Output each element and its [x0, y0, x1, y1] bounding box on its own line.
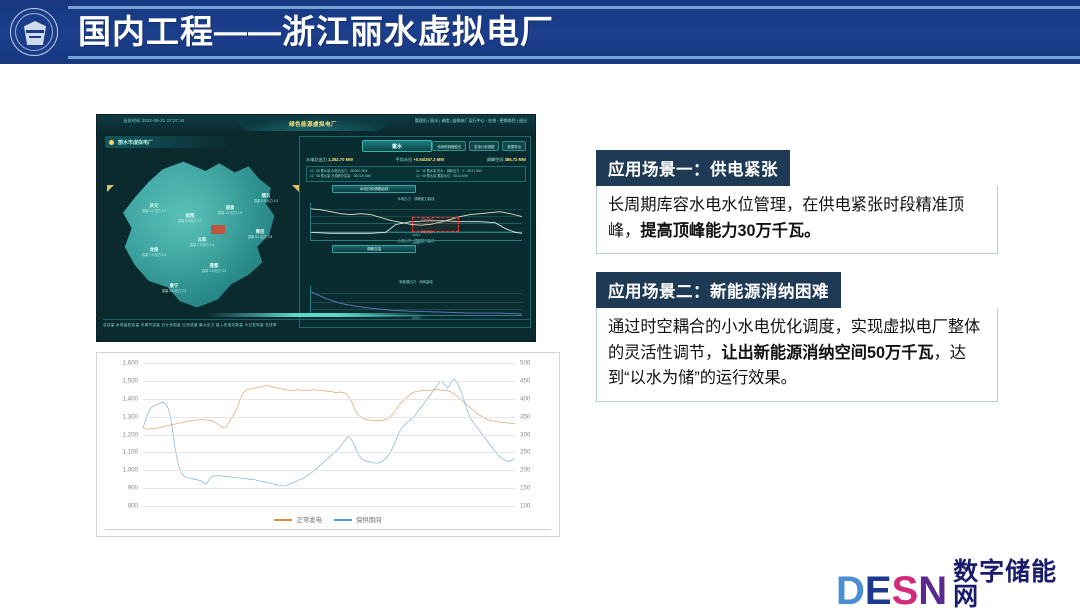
desn-letter-n: N — [918, 574, 947, 608]
desn-letter-s: S — [892, 574, 919, 608]
info-line: 12 · 08 蓄水量 日调峰补偿量：08:21/0 MW — [310, 174, 416, 179]
map-region-label[interactable]: 松阳 容量 5.8 出力 3.2 — [175, 213, 205, 223]
chart-ytick-right: 500 — [520, 360, 530, 367]
scenario-text-bold: 让出新能源消纳空间50万千瓦 — [721, 344, 933, 362]
dashboard-bottom-bar: 总容量 水电装机容量 可调节容量 日计划电量 日完成度 最大出力 接入的电站数量… — [103, 319, 531, 333]
dashboard-info-box: 11 · 08 蓄水量 水电站出力：08:00/1 MW 11 · 08 蓄水量… — [306, 166, 526, 182]
chart-series-line — [143, 386, 515, 429]
chart-gridline — [143, 417, 515, 418]
map-region-label[interactable]: 景宁 容量 3.8 出力 2.2 — [159, 283, 189, 293]
stat-value: +0.54/267.3 MW — [413, 157, 444, 162]
map-region-label[interactable]: 莲都 容量 4.9 出力 3.0 — [199, 263, 229, 273]
map-region-detail: 容量 3.8 出力 2.2 — [159, 289, 189, 293]
chart-ytick-left: 1,000 — [123, 467, 138, 474]
stat-avg-level: 平均水位 +0.54/267.3 MW — [395, 157, 444, 163]
panel-title-label: 丽水市虚拟电厂 — [118, 139, 153, 146]
legend-item-supply[interactable]: 保供期间 — [334, 515, 382, 524]
tab-storage-water[interactable]: 蓄水 — [362, 140, 432, 152]
chart-ytick-right: 150 — [520, 485, 530, 492]
legend-swatch — [334, 519, 352, 521]
scenario-1-title: 应用场景一：供电紧张 — [596, 150, 790, 186]
dashboard-mini-buttons: 电网侧调度模式 发电计划调整 数据导出 — [432, 141, 526, 151]
dashboard-panel-title: 丽水市虚拟电厂 — [105, 136, 225, 148]
scenario-2-title: 应用场景二：新能源消纳困难 — [596, 272, 841, 308]
mini-chart-xlabel: 时间/h — [311, 241, 522, 245]
stat-label: 调峰空间 — [487, 157, 504, 162]
chart-ytick-right: 300 — [520, 431, 530, 438]
chart-baseline-rule — [105, 529, 551, 530]
stat-total-output: 水电总出力 1,352.70 MW — [306, 157, 353, 163]
university-seal-icon — [10, 8, 58, 56]
chart-ytick-left: 1,600 — [123, 360, 138, 367]
desn-wordmark: 数字储能网 www.desn.com.cn — [953, 560, 1080, 608]
chart-ytick-left: 1,500 — [123, 377, 138, 384]
stat-peak-space: 调峰空间 386.72 MW — [487, 157, 526, 163]
chart-gridline — [143, 399, 515, 400]
map-region-label[interactable]: 庆元 容量 4.1 出力 2.7 — [139, 203, 169, 213]
scenario-card-2: 应用场景二：新能源消纳困难 通过时空耦合的小水电优化调度，实现虚拟电厂整体的灵活… — [596, 272, 998, 402]
mini-chart-2: 顶峰时段 精准顶峰 时间/h — [310, 215, 522, 241]
chart-gridline — [143, 452, 515, 453]
chart-gridline — [143, 488, 515, 489]
chart-ytick-right: 400 — [520, 395, 530, 402]
vpp-dashboard-screenshot: 当前时间 2022-08-31 17:27:44 绿色能源虚拟电厂 管理员 | … — [96, 114, 536, 342]
button-peak-capacity[interactable]: 调峰容量 — [332, 245, 416, 253]
stat-value: 386.72 MW — [505, 157, 526, 162]
button-dayahead-peak-curve[interactable]: 水电日前调峰曲线 — [332, 185, 416, 193]
chart-ytick-left: 1,100 — [123, 449, 138, 456]
bullet-icon — [109, 140, 114, 145]
scenario-text-bold: 提高顶峰能力30万千瓦。 — [640, 222, 820, 240]
desn-letter-d: D — [836, 574, 865, 608]
map-region-detail: 容量 6.4 出力 4.1 — [251, 199, 281, 203]
mini-chart-caption: 新能源出力 · 消纳曲线 — [300, 279, 532, 284]
legend-label: 正常发电 — [296, 515, 322, 524]
legend-swatch — [274, 519, 292, 521]
red-annotation-label: 顶峰时段 — [421, 218, 433, 222]
map-region-detail: 容量 2.6 出力 1.5 — [187, 243, 217, 247]
dashboard-stat-row: 水电总出力 1,352.70 MW 平均水位 +0.54/267.3 MW 调峰… — [306, 157, 526, 163]
mini-chart-3: 时间/h — [310, 286, 522, 316]
red-annotation-label: 精准顶峰 — [421, 230, 433, 234]
chart-gridline — [143, 381, 515, 382]
stat-label: 水电总出力 — [306, 157, 327, 162]
chart-gridline — [143, 506, 515, 507]
mini-button-dispatch-mode[interactable]: 电网侧调度模式 — [432, 141, 466, 151]
mini-button-export[interactable]: 数据导出 — [502, 141, 526, 151]
chart-ytick-right: 250 — [520, 449, 530, 456]
scenario-card-1: 应用场景一：供电紧张 长周期库容水电水位管理，在供电紧张时段精准顶峰，提高顶峰能… — [596, 150, 998, 254]
map-region-detail: 容量 7.2 出力 4.4 — [139, 253, 169, 257]
map-region-label[interactable]: 遂昌 容量 3.2 出力 1.9 — [215, 205, 245, 215]
map-corner-tl-icon — [107, 185, 114, 192]
map-region-detail: 容量 5.8 出力 3.2 — [175, 219, 205, 223]
map-region-label[interactable]: 缙云 容量 6.4 出力 4.1 — [251, 193, 281, 203]
legend-label: 保供期间 — [356, 515, 382, 524]
stat-label: 平均水位 — [395, 157, 412, 162]
chart-plot-area: 8009001,0001,1001,2001,3001,4001,5001,60… — [143, 363, 515, 506]
page-title: 国内工程——浙江丽水虚拟电厂 — [78, 9, 554, 55]
chart-ytick-right: 350 — [520, 413, 530, 420]
map-hotspot-marker — [211, 225, 225, 234]
chart-gridline — [143, 435, 515, 436]
slide-root: 国内工程——浙江丽水虚拟电厂 当前时间 2022-08-31 17:27:44 … — [0, 0, 1080, 608]
dashboard-user-bar[interactable]: 管理员 | 丽水 | 调度 | 虚拟电厂运行中心 · 在线 · 更换角色 | 退… — [415, 118, 527, 124]
map-region-label[interactable]: 龙泉 容量 7.2 出力 4.4 — [139, 247, 169, 257]
dashboard-bottom-pill — [207, 313, 427, 317]
mini-chart-caption: 水电出力 · 调峰能力曲线 — [300, 196, 532, 201]
header-bottom-rule — [68, 56, 1080, 59]
chart-ytick-right: 450 — [520, 377, 530, 384]
chart-ytick-right: 200 — [520, 467, 530, 474]
map-region-detail: 容量 4.1 出力 2.7 — [139, 209, 169, 213]
map-region-label[interactable]: 青田 容量 5.1 出力 2.8 — [245, 229, 275, 239]
chart-ytick-left: 1,400 — [123, 395, 138, 402]
lishui-map[interactable]: 庆元 容量 4.1 出力 2.7 松阳 容量 5.8 出力 3.2 遂昌 容量 … — [103, 151, 293, 321]
desn-letter-e: E — [865, 574, 892, 608]
chart-legend: 正常发电 保供期间 — [97, 515, 559, 524]
info-line: 12 · 08 蓄水量 蓄能水位：08:21 MW — [416, 174, 522, 179]
map-corner-tr-icon — [292, 185, 299, 192]
dashboard-banner: 绿色能源虚拟电厂 — [237, 116, 389, 131]
desn-cn-name: 数字储能网 — [953, 560, 1080, 608]
stat-value: 1,352.70 MW — [328, 157, 353, 162]
legend-item-normal[interactable]: 正常发电 — [274, 515, 322, 524]
scenario-2-body: 通过时空耦合的小水电优化调度，实现虚拟电厂整体的灵活性调节，让出新能源消纳空间5… — [596, 308, 998, 402]
chart-ytick-left: 1,300 — [123, 413, 138, 420]
dashboard-banner-title: 绿色能源虚拟电厂 — [289, 120, 337, 128]
scenario-1-body: 长周期库容水电水位管理，在供电紧张时段精准顶峰，提高顶峰能力30万千瓦。 — [596, 186, 998, 254]
map-region-detail: 容量 3.2 出力 1.9 — [215, 211, 245, 215]
red-highlight-box — [412, 217, 458, 232]
chart-ytick-right: 100 — [520, 503, 530, 510]
desn-watermark: DESN 数字储能网 www.desn.com.cn — [836, 560, 1080, 608]
map-region-detail: 容量 5.1 出力 2.8 — [245, 235, 275, 239]
dashboard-timestamp: 当前时间 2022-08-31 17:27:44 — [123, 118, 185, 124]
chart-ytick-left: 900 — [128, 485, 138, 492]
dashboard-right-panel: 蓄水 电网侧调度模式 发电计划调整 数据导出 水电总出力 1,352.70 MW… — [299, 136, 531, 328]
map-region-detail: 容量 4.9 出力 3.0 — [199, 269, 229, 273]
chart-gridline — [143, 470, 515, 471]
chart-ytick-left: 800 — [128, 503, 138, 510]
map-region-label[interactable]: 云和 容量 2.6 出力 1.5 — [187, 237, 217, 247]
slide-header: 国内工程——浙江丽水虚拟电厂 — [0, 0, 1080, 64]
mini-button-plan-adjust[interactable]: 发电计划调整 — [469, 141, 499, 151]
chart-ytick-left: 1,200 — [123, 431, 138, 438]
desn-logo-icon: DESN — [836, 574, 947, 608]
chart-gridline — [143, 363, 515, 364]
power-output-chart: 8009001,0001,1001,2001,3001,4001,5001,60… — [96, 352, 560, 537]
